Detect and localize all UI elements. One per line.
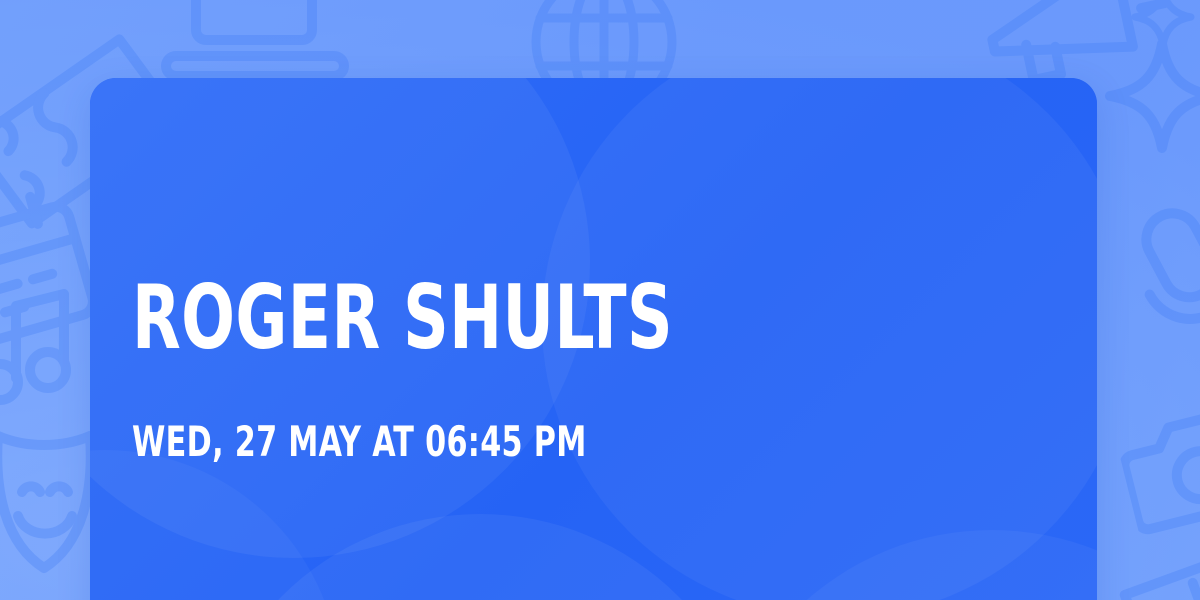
camera-icon bbox=[1124, 398, 1200, 528]
event-banner: ROGER SHULTS WED, 27 MAY AT 06:45 PM bbox=[0, 0, 1200, 600]
music-note-icon bbox=[0, 286, 86, 406]
event-title: ROGER SHULTS bbox=[132, 274, 673, 362]
sparkle-icon bbox=[1128, 0, 1198, 52]
sparkle-icon bbox=[1102, 36, 1200, 156]
ticket-icon bbox=[1116, 520, 1200, 600]
event-card[interactable]: ROGER SHULTS WED, 27 MAY AT 06:45 PM bbox=[90, 78, 1097, 600]
event-datetime: WED, 27 MAY AT 06:45 PM bbox=[132, 421, 587, 463]
card-content: ROGER SHULTS WED, 27 MAY AT 06:45 PM bbox=[132, 78, 1057, 600]
microphone-icon bbox=[1118, 196, 1200, 356]
